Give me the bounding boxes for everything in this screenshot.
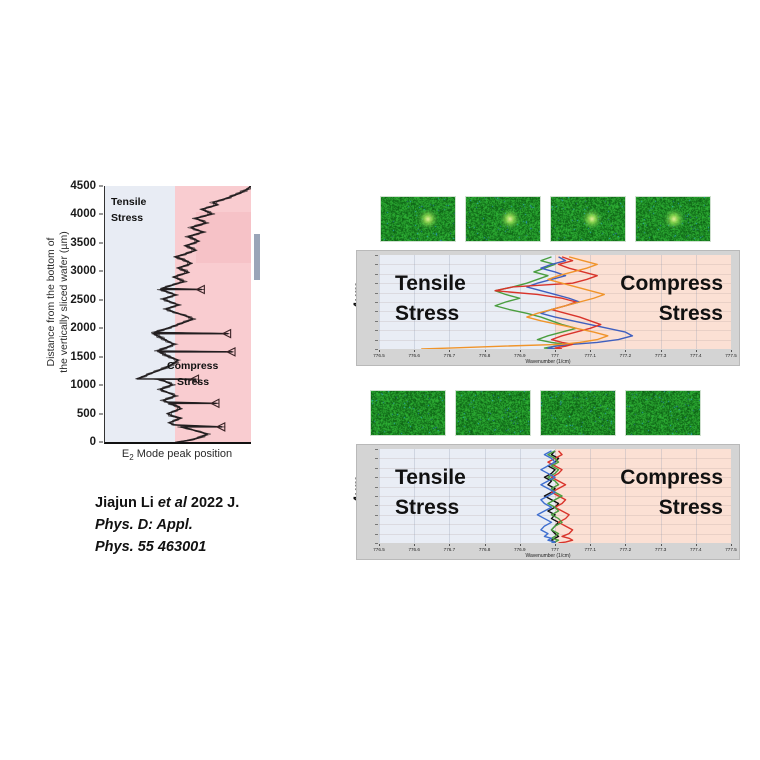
raman-map-canvas — [636, 197, 710, 241]
y-tick-mark — [99, 385, 103, 386]
x-tick-label: 776.7 — [444, 547, 456, 552]
raman-map-canvas — [381, 197, 455, 241]
bottom-x-axis-title: Wavenumber (1/cm) — [357, 553, 739, 559]
bottom-compress-line1: Compress — [620, 463, 723, 493]
y-tick-mark — [99, 442, 103, 443]
raman-map-tile — [540, 390, 616, 436]
y-tick-mark — [375, 468, 378, 469]
raman-map-tile — [465, 196, 541, 242]
y-tick-mark — [375, 496, 378, 497]
y-tick-label: 4500 — [70, 180, 96, 192]
y-tick-mark — [375, 449, 378, 450]
x-axis-label-text: Mode peak position — [134, 448, 232, 460]
x-tick-mark — [731, 350, 732, 352]
x-tick-label: 777.3 — [655, 547, 667, 552]
left-depth-profile-chart: Distance from the bottom of the vertical… — [20, 186, 290, 486]
x-tick-label: 777.4 — [690, 353, 702, 358]
top-compress-line2: Stress — [620, 299, 723, 329]
raman-map-canvas — [541, 391, 615, 435]
x-tick-label: 776.6 — [408, 547, 420, 552]
top-tensile-line1: Tensile — [395, 269, 466, 299]
x-tick-label: 776.8 — [479, 547, 491, 552]
x-tick-label: 777.5 — [725, 547, 737, 552]
top-tensile-text: Tensile Stress — [395, 269, 466, 329]
y-tick-mark — [375, 458, 378, 459]
y-tick-mark — [99, 186, 103, 187]
y-tick-mark — [99, 413, 103, 414]
y-tick-mark — [99, 214, 103, 215]
y-tick-mark — [375, 293, 378, 294]
y-tick-label: 1000 — [70, 379, 96, 391]
left-chart-compress-label: Compress Stress — [167, 358, 218, 390]
x-tick-label: 777.1 — [584, 547, 596, 552]
x-tick-mark — [520, 350, 521, 352]
y-tick-mark — [375, 340, 378, 341]
top-compress-text: Compress Stress — [620, 269, 723, 329]
raman-map-tile — [550, 196, 626, 242]
bottom-tensile-line1: Tensile — [395, 463, 466, 493]
x-tick-label: 777.4 — [690, 547, 702, 552]
raman-map-canvas — [626, 391, 700, 435]
x-tick-mark — [449, 350, 450, 352]
raman-map-tile — [455, 390, 531, 436]
y-tick-label: 4000 — [70, 208, 96, 220]
x-tick-mark — [696, 350, 697, 352]
x-tick-mark — [590, 544, 591, 546]
y-tick-mark — [375, 311, 378, 312]
x-tick-mark — [555, 350, 556, 352]
x-tick-label: 776.7 — [444, 353, 456, 358]
x-tick-label: 776.8 — [479, 353, 491, 358]
bottom-compress-text: Compress Stress — [620, 463, 723, 523]
x-tick-label: 776.5 — [373, 353, 385, 358]
x-tick-label: 777 — [551, 547, 559, 552]
x-tick-mark — [520, 544, 521, 546]
raman-map-canvas — [551, 197, 625, 241]
x-tick-mark — [555, 544, 556, 546]
left-chart-y-ticks: 050010001500200025003000350040004500 — [56, 186, 100, 442]
x-tick-label: 777.3 — [655, 353, 667, 358]
top-spectra-chart: Tensile Stress Compress Stress 776.5776.… — [356, 250, 740, 366]
x-tick-label: 777.5 — [725, 353, 737, 358]
citation-line-2: Phys. D: Appl. — [95, 514, 295, 536]
bottom-spectra-chart: Tensile Stress Compress Stress 776.5776.… — [356, 444, 740, 560]
citation-line-3: Phys. 55 463001 — [95, 536, 295, 558]
y-tick-mark — [375, 515, 378, 516]
y-tick-label: 3500 — [70, 237, 96, 249]
citation-etal: et al — [158, 495, 187, 511]
y-tick-mark — [375, 487, 378, 488]
citation-line-1: Jiajun Li et al 2022 J. — [95, 492, 295, 514]
x-tick-label: 777.1 — [584, 353, 596, 358]
bottom-compress-line2: Stress — [620, 493, 723, 523]
bottom-x-tick-labels: 776.5776.6776.7776.8776.9777777.1777.277… — [379, 545, 731, 553]
x-tick-label: 776.9 — [514, 353, 526, 358]
bottom-right-panel: 4um- depth Tensile St — [340, 390, 740, 575]
y-tick-mark — [375, 255, 378, 256]
y-tick-mark — [99, 299, 103, 300]
y-tick-mark — [375, 330, 378, 331]
left-chart-x-axis-label: E2 Mode peak position — [104, 448, 250, 462]
top-x-tick-labels: 776.5776.6776.7776.8776.9777777.1777.277… — [379, 351, 731, 359]
citation-author: Jiajun Li — [95, 495, 158, 511]
compress-label-line1: Compress — [167, 358, 218, 374]
x-tick-label: 776.6 — [408, 353, 420, 358]
x-tick-mark — [731, 544, 732, 546]
compress-label-line2: Stress — [167, 374, 218, 390]
y-tick-label: 1500 — [70, 351, 96, 363]
y-tick-mark — [375, 321, 378, 322]
left-chart-trace-noise — [137, 186, 251, 442]
x-tick-mark — [379, 544, 380, 546]
bottom-tensile-text: Tensile Stress — [395, 463, 466, 523]
x-tick-mark — [661, 544, 662, 546]
x-tick-mark — [590, 350, 591, 352]
bottom-raman-image-tiles — [370, 390, 701, 436]
x-tick-mark — [414, 544, 415, 546]
raman-map-canvas — [456, 391, 530, 435]
x-tick-label: 777 — [551, 353, 559, 358]
figure-citation: Jiajun Li et al 2022 J. Phys. D: Appl. P… — [95, 492, 295, 558]
tensile-label-line2: Stress — [111, 210, 146, 226]
y-tick-mark — [375, 274, 378, 275]
x-tick-mark — [414, 350, 415, 352]
raman-map-canvas — [466, 197, 540, 241]
left-chart-tensile-label: Tensile Stress — [111, 194, 146, 226]
y-tick-mark — [99, 356, 103, 357]
y-tick-label: 3000 — [70, 265, 96, 277]
top-right-panel: 4um- depth Tensile St — [340, 196, 740, 381]
y-tick-mark — [99, 242, 103, 243]
y-tick-mark — [375, 543, 378, 544]
x-tick-label: 777.2 — [620, 547, 632, 552]
raman-map-tile — [370, 390, 446, 436]
bottom-tensile-line2: Stress — [395, 493, 466, 523]
raman-map-tile — [380, 196, 456, 242]
left-chart-side-marker-bar — [254, 234, 260, 280]
x-tick-mark — [661, 350, 662, 352]
x-tick-mark — [696, 544, 697, 546]
y-tick-label: 0 — [90, 436, 96, 448]
x-tick-label: 776.9 — [514, 547, 526, 552]
x-tick-mark — [379, 350, 380, 352]
figure-canvas: Distance from the bottom of the vertical… — [0, 0, 760, 760]
y-tick-mark — [99, 271, 103, 272]
citation-journal-mid: Phys. D: Appl. — [95, 517, 193, 533]
citation-year-journal-start: 2022 J. — [187, 495, 239, 511]
y-tick-mark — [99, 328, 103, 329]
x-tick-mark — [625, 350, 626, 352]
x-tick-label: 777.2 — [620, 353, 632, 358]
x-tick-mark — [485, 544, 486, 546]
raman-map-tile — [625, 390, 701, 436]
top-raman-image-tiles — [380, 196, 711, 242]
top-x-axis-title: Wavenumber (1/cm) — [357, 359, 739, 365]
x-tick-label: 776.5 — [373, 547, 385, 552]
citation-journal-end: Phys. 55 463001 — [95, 539, 206, 555]
tensile-label-line1: Tensile — [111, 194, 146, 210]
top-tensile-line2: Stress — [395, 299, 466, 329]
y-tick-label: 2500 — [70, 294, 96, 306]
x-tick-mark — [449, 544, 450, 546]
x-tick-mark — [485, 350, 486, 352]
y-tick-mark — [375, 264, 378, 265]
y-tick-mark — [375, 349, 378, 350]
y-tick-mark — [375, 505, 378, 506]
raman-map-tile — [635, 196, 711, 242]
y-tick-mark — [375, 534, 378, 535]
y-tick-label: 2000 — [70, 322, 96, 334]
y-tick-mark — [375, 524, 378, 525]
y-tick-mark — [375, 302, 378, 303]
y-tick-label: 500 — [77, 408, 96, 420]
top-compress-line1: Compress — [620, 269, 723, 299]
y-tick-mark — [375, 477, 378, 478]
raman-map-canvas — [371, 391, 445, 435]
y-tick-mark — [375, 283, 378, 284]
x-tick-mark — [625, 544, 626, 546]
left-chart-plot-area: Tensile Stress Compress Stress — [104, 186, 251, 444]
